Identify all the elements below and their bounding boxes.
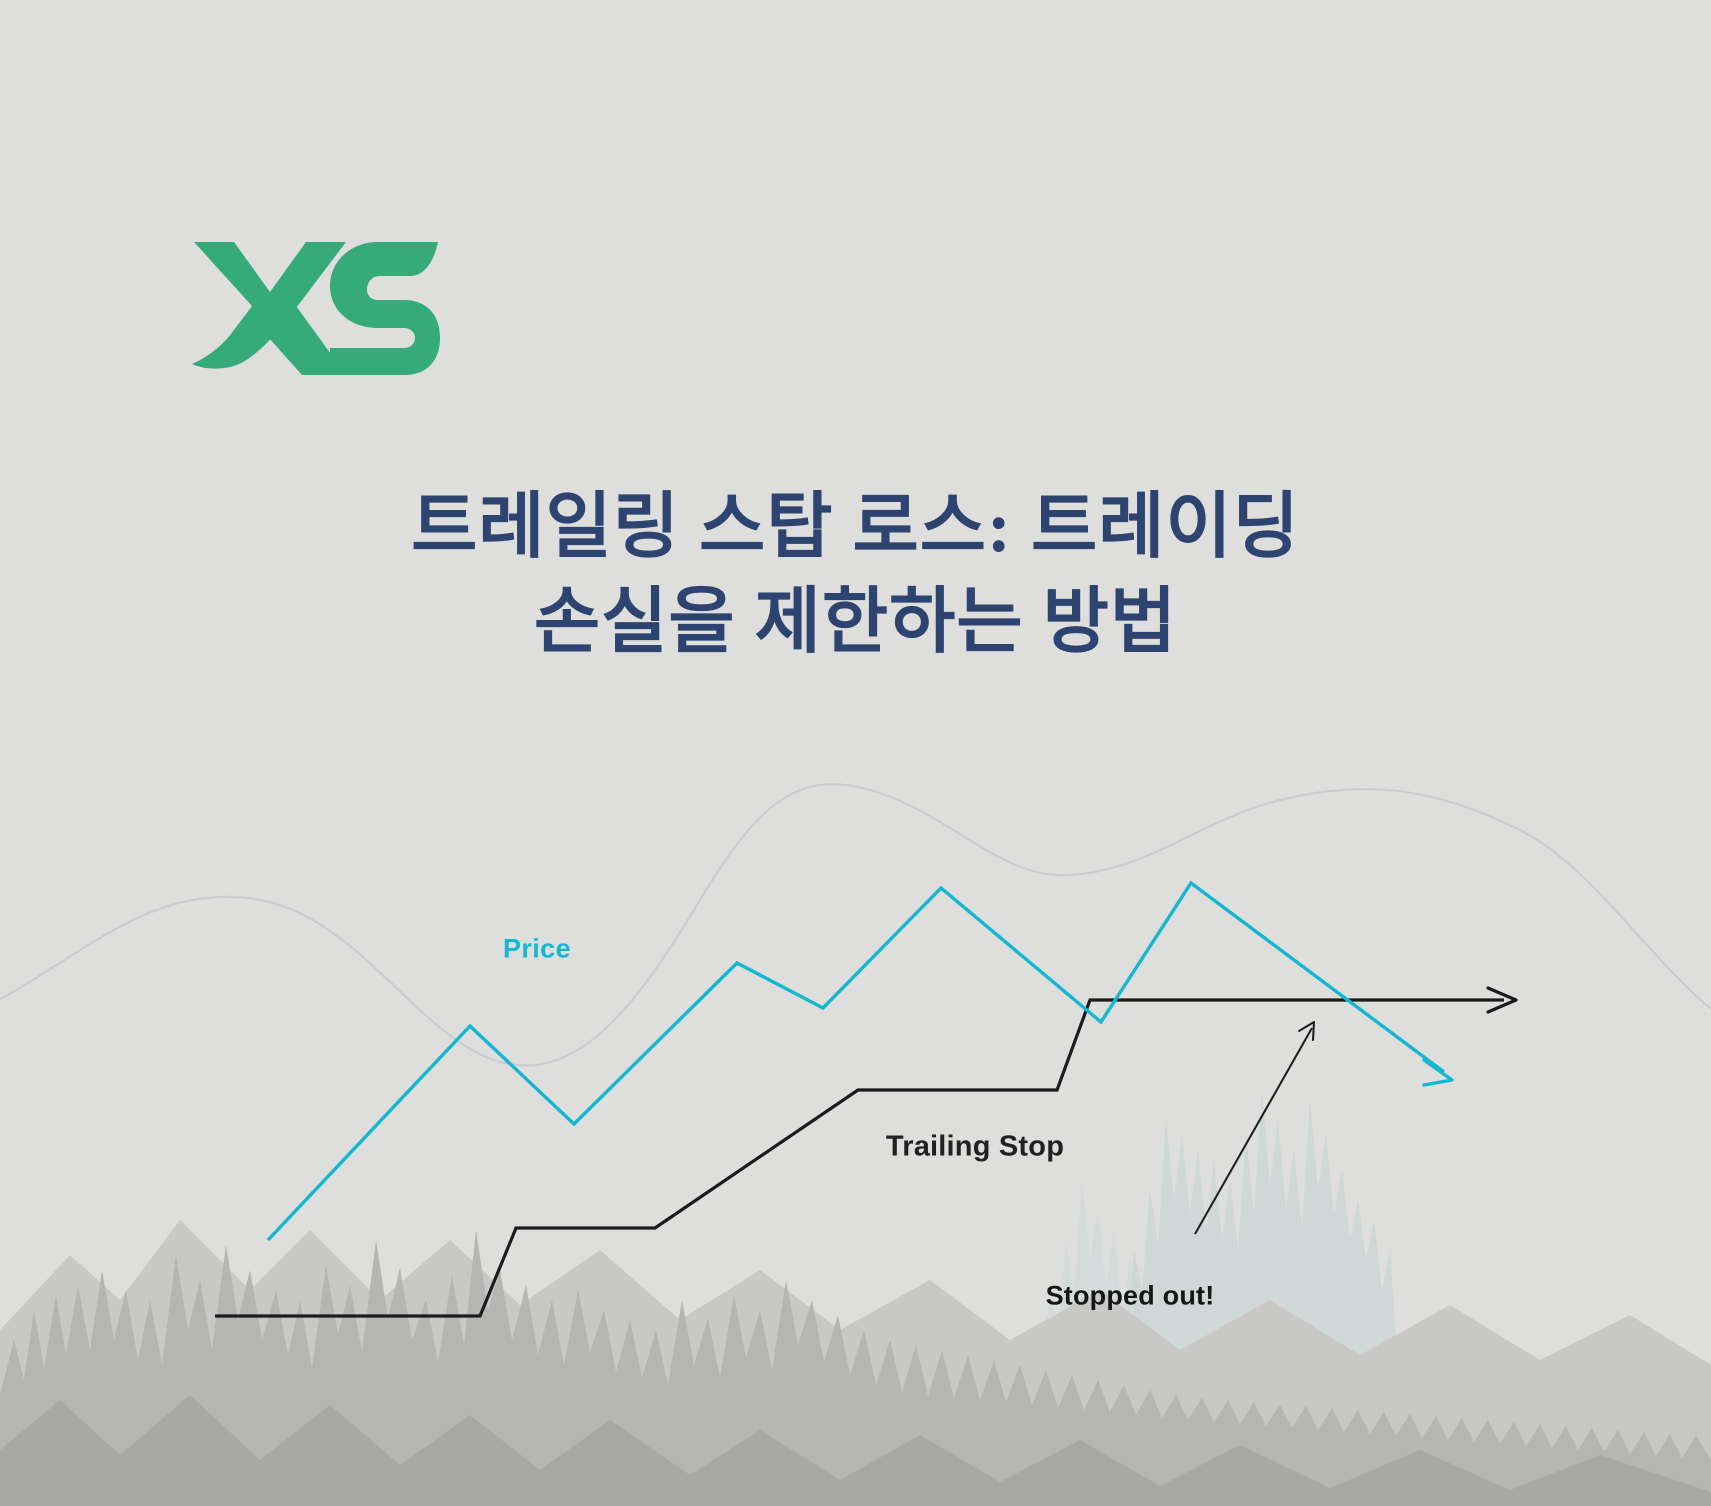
- page-title: 트레일링 스탑 로스: 트레이딩 손실을 제한하는 방법: [0, 480, 1711, 670]
- xs-logo[interactable]: XS: [190, 236, 440, 381]
- stopped-out-label: Stopped out!: [1046, 1281, 1215, 1312]
- price-label: Price: [503, 934, 571, 965]
- poster-canvas: XS 트레일링 스탑 로스: 트레이딩 손실을 제한하는 방법 Price Tr…: [0, 0, 1711, 1506]
- trailing-stop-label: Trailing Stop: [886, 1131, 1064, 1164]
- background-wave: [0, 784, 1711, 1065]
- chart-illustration: [0, 0, 1711, 1506]
